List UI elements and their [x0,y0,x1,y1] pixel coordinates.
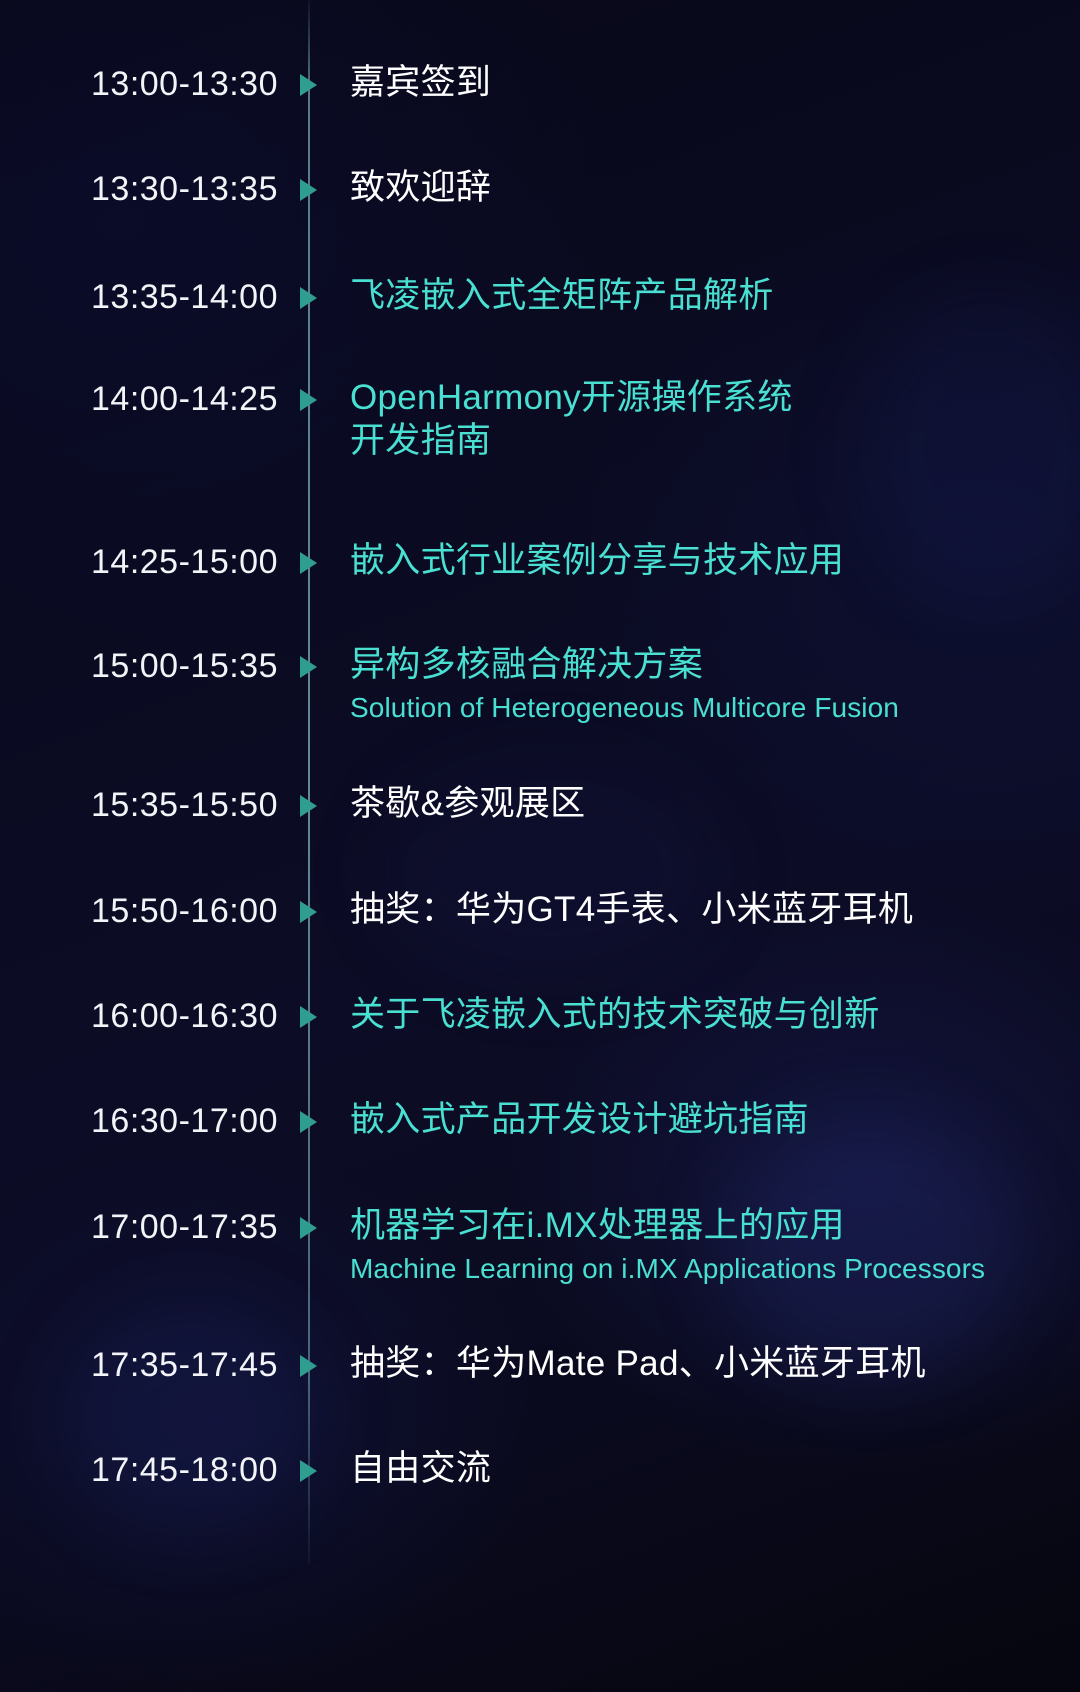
agenda-title: 飞凌嵌入式全矩阵产品解析 [350,275,1050,318]
agenda-time: 17:00-17:35 [0,1208,278,1247]
agenda-time: 17:45-18:00 [0,1451,278,1490]
agenda-time: 16:30-17:00 [0,1102,278,1141]
triangle-marker-icon [300,901,317,923]
background-texture [0,0,1080,1692]
agenda-entry: 嵌入式产品开发设计避坑指南 [350,1099,1050,1142]
agenda-entry: OpenHarmony开源操作系统 开发指南 [350,377,1050,462]
agenda-title: 嵌入式行业案例分享与技术应用 [350,540,1050,583]
agenda-title: 机器学习在i.MX处理器上的应用 [350,1205,1050,1248]
triangle-marker-icon [300,552,317,574]
triangle-marker-icon [300,1217,317,1239]
agenda-entry: 异构多核融合解决方案Solution of Heterogeneous Mult… [350,644,1050,724]
agenda-subtitle: Machine Learning on i.MX Applications Pr… [350,1252,1050,1286]
timeline-spine [308,0,310,1564]
agenda-entry: 抽奖：华为Mate Pad、小米蓝牙耳机 [350,1343,1050,1386]
agenda-title: 自由交流 [350,1448,1050,1491]
agenda-title: 嘉宾签到 [350,62,1050,105]
agenda-title: 抽奖：华为Mate Pad、小米蓝牙耳机 [350,1343,1050,1386]
agenda-time: 15:00-15:35 [0,647,278,686]
agenda-subtitle: Solution of Heterogeneous Multicore Fusi… [350,691,1050,725]
triangle-marker-icon [300,1111,317,1133]
triangle-marker-icon [300,1460,317,1482]
background-glow [60,1300,320,1530]
triangle-marker-icon [300,389,317,411]
triangle-marker-icon [300,74,317,96]
triangle-marker-icon [300,656,317,678]
agenda-time: 14:25-15:00 [0,543,278,582]
triangle-marker-icon [300,287,317,309]
agenda-entry: 自由交流 [350,1448,1050,1491]
agenda-title: 致欢迎辞 [350,167,1050,210]
agenda-time: 13:35-14:00 [0,278,278,317]
triangle-marker-icon [300,1355,317,1377]
triangle-marker-icon [300,1006,317,1028]
agenda-title: 茶歇&参观展区 [350,783,1050,826]
agenda-time: 13:00-13:30 [0,65,278,104]
agenda-time: 16:00-16:30 [0,997,278,1036]
agenda-time: 13:30-13:35 [0,170,278,209]
triangle-marker-icon [300,179,317,201]
agenda-title: 异构多核融合解决方案 [350,644,1050,687]
agenda-poster: 13:00-13:30嘉宾签到13:30-13:35致欢迎辞13:35-14:0… [0,0,1080,1692]
agenda-time: 17:35-17:45 [0,1346,278,1385]
agenda-entry: 飞凌嵌入式全矩阵产品解析 [350,275,1050,318]
agenda-entry: 关于飞凌嵌入式的技术突破与创新 [350,994,1050,1037]
agenda-entry: 机器学习在i.MX处理器上的应用Machine Learning on i.MX… [350,1205,1050,1285]
agenda-title: 关于飞凌嵌入式的技术突破与创新 [350,994,1050,1037]
agenda-time: 15:35-15:50 [0,786,278,825]
agenda-entry: 嘉宾签到 [350,62,1050,105]
agenda-time: 14:00-14:25 [0,380,278,419]
agenda-title: 抽奖：华为GT4手表、小米蓝牙耳机 [350,889,1050,932]
agenda-entry: 致欢迎辞 [350,167,1050,210]
agenda-title: OpenHarmony开源操作系统 开发指南 [350,377,1050,462]
agenda-entry: 抽奖：华为GT4手表、小米蓝牙耳机 [350,889,1050,932]
agenda-entry: 嵌入式行业案例分享与技术应用 [350,540,1050,583]
agenda-title: 嵌入式产品开发设计避坑指南 [350,1099,1050,1142]
triangle-marker-icon [300,795,317,817]
agenda-time: 15:50-16:00 [0,892,278,931]
agenda-entry: 茶歇&参观展区 [350,783,1050,826]
